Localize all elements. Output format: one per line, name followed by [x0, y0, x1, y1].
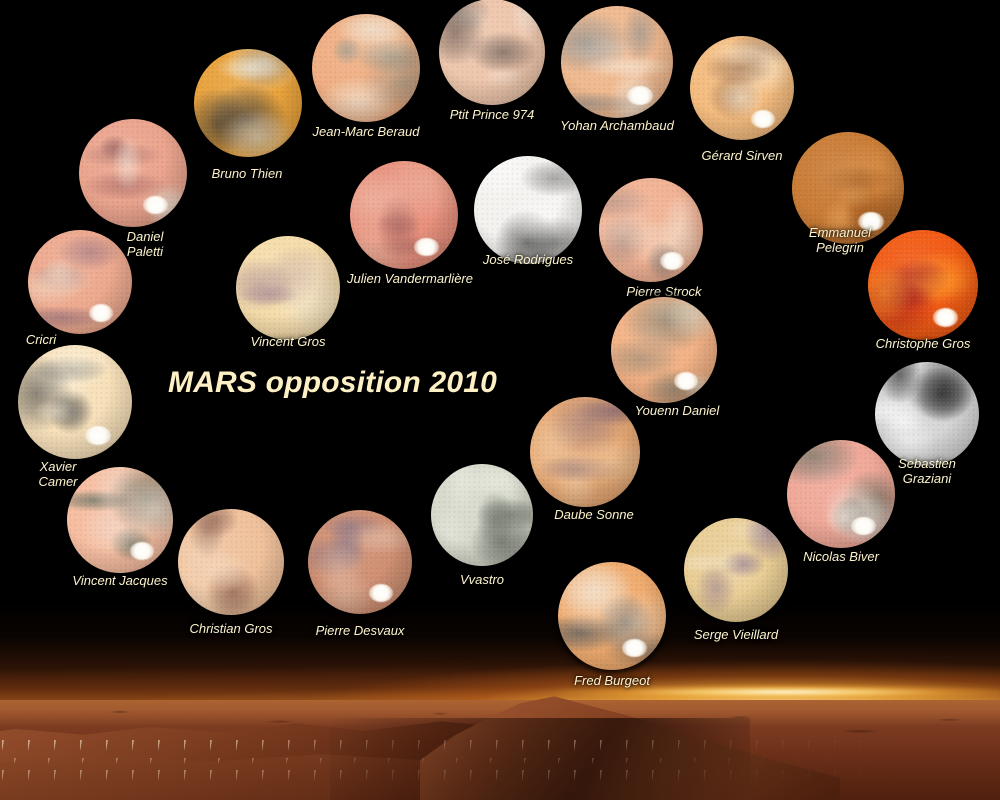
mars-disk	[67, 467, 173, 573]
disk-grain	[178, 509, 284, 615]
limb-darkening	[350, 161, 458, 269]
mars-disk	[530, 397, 640, 507]
mars-opposition-poster: Bruno ThienJean-Marc BeraudPtit Prince 9…	[0, 0, 1000, 800]
polar-cap	[933, 308, 958, 327]
polar-cap	[130, 542, 154, 560]
limb-darkening	[178, 509, 284, 615]
mars-disk	[308, 510, 412, 614]
limb-darkening	[875, 362, 979, 466]
limb-darkening	[439, 0, 545, 105]
limb-darkening	[599, 178, 703, 282]
polar-cap	[369, 584, 393, 602]
contributor-label: Daube Sonne	[554, 507, 634, 522]
disk-grain	[18, 345, 132, 459]
mars-disk	[236, 236, 340, 340]
limb-darkening	[787, 440, 895, 548]
polar-cap	[751, 110, 775, 128]
contributor-label: Vincent Jacques	[72, 573, 167, 588]
disk-grain	[79, 119, 187, 227]
disk-grain	[431, 464, 533, 566]
polar-cap	[674, 372, 698, 390]
polar-cap	[627, 86, 653, 105]
mars-disk	[611, 297, 717, 403]
mars-disk	[558, 562, 666, 670]
polar-cap	[85, 426, 111, 445]
disk-grain	[684, 518, 788, 622]
limb-darkening	[67, 467, 173, 573]
disk-grain	[530, 397, 640, 507]
disk-grain	[194, 49, 302, 157]
contributor-label: Daniel Paletti	[127, 229, 164, 259]
limb-darkening	[79, 119, 187, 227]
disk-grain	[439, 0, 545, 105]
limb-darkening	[611, 297, 717, 403]
disk-grain	[558, 562, 666, 670]
disk-grain	[474, 156, 582, 264]
disk-grain	[599, 178, 703, 282]
horizon-flare	[520, 684, 1000, 700]
polar-cap	[622, 639, 647, 657]
mars-disk	[690, 36, 794, 140]
polar-cap	[851, 517, 876, 535]
polar-cap	[89, 304, 113, 322]
disk-grain	[690, 36, 794, 140]
contributor-label: Vvastro	[460, 572, 504, 587]
contributor-label: Nicolas Biver	[803, 549, 879, 564]
mars-disk	[312, 14, 420, 122]
limb-darkening	[868, 230, 978, 340]
contributor-label: Cricri	[26, 332, 56, 347]
disk-grain	[350, 161, 458, 269]
mars-disk	[684, 518, 788, 622]
limb-darkening	[236, 236, 340, 340]
limb-darkening	[431, 464, 533, 566]
limb-darkening	[194, 49, 302, 157]
disk-grain	[28, 230, 132, 334]
mars-disk	[431, 464, 533, 566]
contributor-label: Xavier Camer	[38, 459, 77, 489]
limb-darkening	[690, 36, 794, 140]
limb-darkening	[530, 397, 640, 507]
limb-darkening	[561, 6, 673, 118]
cliff-streak-highlights	[0, 718, 1000, 800]
mars-disk	[178, 509, 284, 615]
mars-disk	[79, 119, 187, 227]
mars-disk	[599, 178, 703, 282]
limb-darkening	[18, 345, 132, 459]
contributor-label: Jean-Marc Beraud	[313, 124, 420, 139]
disk-grain	[67, 467, 173, 573]
disk-grain	[875, 362, 979, 466]
mars-disk	[439, 0, 545, 105]
disk-grain	[236, 236, 340, 340]
disk-grain	[787, 440, 895, 548]
contributor-label: Ptit Prince 974	[450, 107, 535, 122]
mars-disk	[18, 345, 132, 459]
mars-disk	[28, 230, 132, 334]
polar-cap	[414, 238, 439, 256]
disk-grain	[308, 510, 412, 614]
mars-disk	[875, 362, 979, 466]
contributor-label: Yohan Archambaud	[560, 118, 674, 133]
limb-darkening	[312, 14, 420, 122]
disk-grain	[792, 132, 904, 244]
mars-disk	[792, 132, 904, 244]
limb-darkening	[684, 518, 788, 622]
polar-cap	[143, 196, 168, 214]
mars-disk	[868, 230, 978, 340]
page-title: MARS opposition 2010	[168, 366, 497, 400]
mars-disk	[350, 161, 458, 269]
disk-grain	[868, 230, 978, 340]
mars-disk	[194, 49, 302, 157]
contributor-label: Julien Vandermarlière	[347, 271, 473, 286]
mars-disk	[474, 156, 582, 264]
limb-darkening	[474, 156, 582, 264]
mars-disk	[561, 6, 673, 118]
polar-cap	[858, 212, 884, 231]
contributor-label: Bruno Thien	[212, 166, 283, 181]
contributor-label: Youenn Daniel	[635, 403, 720, 418]
limb-darkening	[28, 230, 132, 334]
limb-darkening	[792, 132, 904, 244]
contributor-label: Gérard Sirven	[702, 148, 783, 163]
limb-darkening	[308, 510, 412, 614]
limb-darkening	[558, 562, 666, 670]
disk-grain	[312, 14, 420, 122]
mars-landscape-photo	[0, 600, 1000, 800]
disk-grain	[611, 297, 717, 403]
disk-grain	[561, 6, 673, 118]
mars-disk	[787, 440, 895, 548]
polar-cap	[660, 252, 684, 270]
